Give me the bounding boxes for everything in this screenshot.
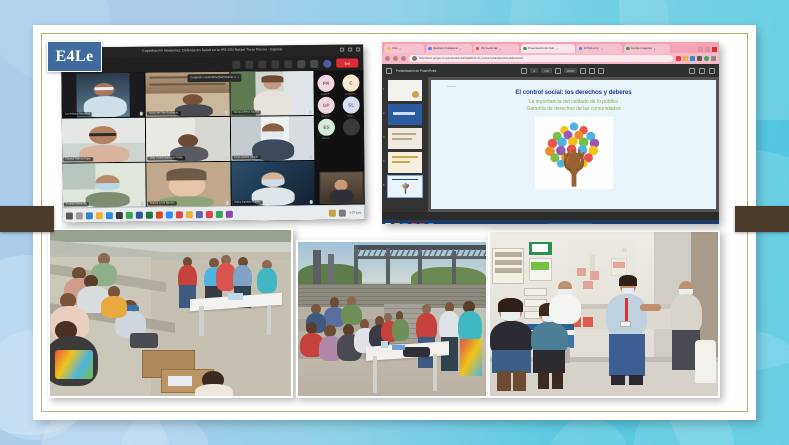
media-icon[interactable] [206, 211, 213, 218]
powerpoint-icon[interactable] [156, 211, 163, 218]
tab-title: Presentación sin título [528, 47, 554, 50]
zoom-tooltip: Cargando contenido\n(Cambiando a...) [187, 74, 241, 82]
browser-tab-strip[interactable]: Drive × Veeduría Ciudadana × Mis Veedurí… [382, 42, 719, 53]
extension-icon[interactable] [697, 56, 702, 61]
tab-title: Veeduría Ciudadana [433, 47, 458, 50]
favicon-icon [626, 47, 630, 51]
url-text: https://docs.google.com/presentation/d/1… [419, 57, 523, 60]
menu-icon[interactable] [386, 68, 392, 74]
zoom-participant-tile[interactable]: Diana Carolina Suárez [231, 161, 315, 206]
slide-thumbnail-active[interactable]: 5 [388, 176, 422, 197]
browser-url-bar[interactable]: https://docs.google.com/presentation/d/1… [382, 53, 719, 64]
teams-icon[interactable] [196, 211, 203, 218]
zoom-participant-tile[interactable]: Yurany Hernández [62, 163, 146, 208]
participant-name: Claudia Patricia Rojas [63, 157, 93, 162]
zoom-out-icon[interactable] [555, 68, 561, 74]
ppt-page-number[interactable]: 4 [530, 68, 538, 74]
ribbon-right [735, 206, 789, 232]
mic-icon [141, 156, 144, 160]
reactions-icon[interactable] [310, 59, 318, 67]
slide-thumbnail[interactable]: 3 [388, 128, 422, 149]
browser2-icon[interactable] [216, 210, 223, 217]
explorer-icon[interactable] [96, 212, 103, 219]
mic-icon [310, 199, 313, 203]
minimize-icon[interactable] [340, 47, 344, 51]
avatar-initials: SL [348, 103, 354, 108]
close-icon[interactable] [356, 47, 360, 51]
mic-icon [309, 154, 312, 158]
background-bubble [549, 418, 629, 445]
taskview-icon[interactable] [86, 212, 93, 219]
avatar[interactable]: PR Paola R... [317, 75, 334, 92]
app-icon[interactable] [116, 211, 123, 218]
download-icon[interactable] [689, 68, 695, 74]
zoom-participant-tile[interactable]: Jorge Andrés Castillo [230, 116, 314, 161]
photo-clinic-waiting-room [488, 230, 720, 398]
chat-icon[interactable] [258, 60, 266, 68]
tab-title: Drive [392, 47, 398, 50]
avatar-label: Gloria P... [321, 115, 331, 118]
avatar[interactable]: GP Gloria P... [318, 97, 335, 114]
address-field[interactable]: https://docs.google.com/presentation/d/1… [409, 55, 673, 63]
browser-tab[interactable]: Veeduría Ciudadana × [426, 44, 472, 53]
bookmark-icon[interactable] [683, 56, 688, 61]
slide-eyebrow: Veeduría [447, 86, 456, 88]
slide-subtitle-line2: Garantía de derechos de las comunidades [526, 106, 620, 112]
slide-stage: Veeduría El control social: los derechos… [428, 77, 719, 212]
participant-name: María del Pilar Rodríguez [147, 111, 180, 116]
ppt-viewer-toolbar[interactable]: Presentación de PowerPoint 4 / 18 100% [382, 64, 719, 77]
taskbar-window-title[interactable]: Presentación de PowerPoint [547, 223, 592, 224]
slide-image-tree-of-hands [535, 117, 613, 189]
tab-title: Mis Veedurías [481, 47, 498, 50]
photo-outdoor-community-meeting [48, 228, 293, 398]
participant-name: Luz Adriana Mendoza [63, 112, 92, 117]
windows-taskbar-browser[interactable]: Presentación de PowerPoint 4:28 p.m. [382, 220, 719, 224]
zoom-app-icon[interactable] [428, 223, 434, 225]
slide-thumbnail[interactable]: 4 [388, 152, 422, 173]
avatar-label: Paola R... [321, 93, 332, 96]
start-icon[interactable] [66, 212, 73, 219]
slide-thumbnail-panel[interactable]: 1 2 3 4 5 [382, 77, 428, 212]
zoom-participant-tile[interactable]: Nelly Yamile Bejarano Pulido [146, 117, 230, 162]
zoom-participant-tile[interactable]: Martha Lucía Barreto [147, 162, 231, 207]
edge-icon[interactable] [402, 223, 408, 225]
participant-name: Nelly Yamile Bejarano Pulido [148, 156, 185, 161]
zoom-participant-tile[interactable]: Luz Adriana Mendoza [61, 73, 145, 118]
thumbnail-number: 5 [383, 184, 384, 187]
close-icon[interactable] [712, 47, 717, 52]
avatar-initials: GP [323, 103, 330, 108]
browser-tab[interactable]: Drive × [384, 44, 424, 53]
mic-icon [225, 155, 228, 159]
print-icon[interactable] [699, 68, 705, 74]
logo-text: E4Le [55, 48, 93, 66]
ppt-page-total: / 18 [541, 68, 552, 74]
tree-of-hands-icon [397, 181, 414, 196]
e4le-logo: E4Le [47, 41, 102, 72]
zoom-in-icon[interactable] [580, 68, 586, 74]
fit-page-icon[interactable] [589, 68, 595, 74]
apps-icon[interactable] [323, 59, 331, 67]
menu-icon[interactable] [711, 56, 716, 61]
avatar-initials: ES [323, 125, 329, 130]
chrome-icon[interactable] [126, 211, 133, 218]
mic-icon [309, 109, 312, 113]
slide-subtitle: La importancia del cuidado de lo público… [526, 99, 620, 114]
zoom-window-controls[interactable] [340, 47, 360, 51]
rotate-icon[interactable] [598, 68, 604, 74]
zoom-participant-tile[interactable]: Claudia Patricia Rojas [62, 118, 146, 163]
browser-extensions[interactable] [676, 56, 716, 61]
participant-name: Yurany Hernández [64, 202, 90, 207]
powerpoint-icon[interactable] [419, 223, 425, 225]
participants-icon[interactable] [245, 60, 253, 68]
extension-icon[interactable] [690, 56, 695, 61]
participant-name: Diana Carolina Suárez [232, 200, 262, 205]
avatar[interactable]: SL Sara L... [343, 96, 360, 113]
chrome-icon[interactable] [411, 223, 417, 225]
mic-icon [225, 200, 228, 204]
browser-window[interactable]: Drive × Veeduría Ciudadana × Mis Veedurí… [382, 42, 719, 224]
word-icon[interactable] [136, 211, 143, 218]
forward-icon[interactable] [393, 56, 398, 61]
previous-page-icon[interactable] [521, 68, 527, 74]
start-icon[interactable] [385, 223, 391, 225]
zoom-self-view[interactable] [319, 171, 363, 203]
avatar[interactable]: ES Elsa S... [318, 119, 335, 136]
more-options-icon[interactable] [709, 68, 715, 74]
ppt-zoom-level[interactable]: 100% [564, 68, 577, 74]
maximize-icon[interactable] [705, 47, 710, 52]
slide-thumbnail[interactable]: 2 [388, 104, 422, 125]
participant-name: Sandra Milena Ospina [231, 110, 261, 115]
close-tab-icon[interactable]: × [499, 47, 501, 51]
zoom-meeting-title: Capacitación Veedurías, Defensa en Salud… [142, 47, 282, 52]
close-tab-icon[interactable]: × [399, 47, 401, 51]
favicon-icon [387, 47, 391, 51]
mic-icon [224, 110, 227, 114]
maximize-icon[interactable] [348, 47, 352, 51]
browser-tab-active[interactable]: Presentación sin título × [521, 44, 575, 53]
avatar-initials: PR [323, 81, 329, 86]
participant-name: Martha Lucía Barreto [148, 201, 176, 206]
explorer-icon[interactable] [394, 223, 400, 225]
end-meeting-label: End [345, 61, 350, 65]
thumbnail-number: 1 [383, 88, 384, 91]
browser-tab[interactable]: Google Imágenes × [624, 44, 670, 53]
record-icon[interactable] [297, 60, 305, 68]
folder-icon[interactable] [186, 211, 193, 218]
excel-icon[interactable] [146, 211, 153, 218]
slide-thumbnail[interactable]: 1 [388, 80, 422, 101]
network-icon[interactable] [329, 209, 336, 216]
browser-window-controls[interactable] [698, 47, 717, 53]
close-tab-icon[interactable]: × [654, 47, 656, 51]
avatar-label: Consuelo... [345, 92, 357, 95]
tab-title: Google Imágenes [631, 47, 652, 50]
avatar[interactable]: C Consuelo... [342, 74, 359, 91]
volume-icon[interactable] [339, 209, 346, 216]
zoom-participant-grid: Luz Adriana Mendoza María del Pilar Rodr… [61, 71, 314, 208]
presentation-slide: Veeduría El control social: los derechos… [431, 80, 716, 209]
browser-tab[interactable]: SIVIGILA Col × [576, 44, 622, 53]
avatar-initials: C [349, 81, 352, 86]
favicon-icon [579, 47, 583, 51]
system-clock: 4:27 p.m. [349, 210, 362, 214]
security-icon[interactable] [232, 60, 240, 68]
ppt-page-controls[interactable]: 4 / 18 100% [521, 68, 603, 74]
more-icon[interactable] [284, 60, 292, 68]
zoom-gallery: Luz Adriana Mendoza María del Pilar Rodr… [61, 70, 364, 207]
favicon-icon [523, 47, 527, 51]
participant-name: Jorge Andrés Castillo [232, 155, 261, 160]
photo-covered-venue-gathering [296, 240, 488, 398]
mic-icon [141, 201, 144, 205]
slide-subtitle-line1: La importancia del cuidado de lo público [529, 99, 618, 105]
end-meeting-button[interactable]: End [336, 58, 358, 67]
share-screen-icon[interactable] [271, 60, 279, 68]
browser-tab[interactable]: Mis Veedurías × [473, 44, 519, 53]
mic-icon [140, 111, 143, 115]
profile-avatar-icon[interactable] [704, 56, 709, 61]
zoom-app-icon[interactable] [166, 211, 173, 218]
close-tab-icon[interactable]: × [459, 47, 461, 51]
ppt-bottom-bar [382, 212, 719, 220]
close-tab-icon[interactable]: × [601, 47, 603, 51]
avatar-label: Elsa S... [322, 137, 331, 140]
avatar-label: Sara L... [347, 115, 356, 118]
close-tab-icon[interactable]: × [556, 47, 558, 51]
search-icon[interactable] [76, 212, 83, 219]
extension-icon[interactable] [676, 56, 681, 61]
edge-icon[interactable] [106, 212, 113, 219]
slide-title: El control social: los derechos y debere… [515, 89, 631, 96]
windows-taskbar-zoom[interactable]: 4:27 p.m. [63, 204, 365, 222]
ppt-filename: Presentación de PowerPoint [396, 69, 436, 73]
favicon-icon [476, 47, 480, 51]
thumbnail-number: 3 [383, 136, 384, 139]
mail-icon[interactable] [176, 211, 183, 218]
misc-icon[interactable] [226, 210, 233, 217]
favicon-icon [428, 47, 432, 51]
lock-icon [412, 56, 417, 61]
minimize-icon[interactable] [698, 47, 703, 52]
zoom-meeting-window[interactable]: Capacitación Veedurías, Defensa en Salud… [61, 44, 365, 222]
zoom-participant-tile[interactable]: Sandra Milena Ospina [230, 71, 314, 116]
thumbnail-number: 4 [383, 160, 384, 163]
thumbnail-number: 2 [383, 112, 384, 115]
ppt-viewer-body: 1 2 3 4 5 [382, 77, 719, 212]
back-icon[interactable] [385, 56, 390, 61]
ribbon-left [0, 206, 54, 232]
tab-title: SIVIGILA Col [584, 47, 600, 50]
reload-icon[interactable] [401, 56, 406, 61]
avatar[interactable] [343, 118, 360, 135]
